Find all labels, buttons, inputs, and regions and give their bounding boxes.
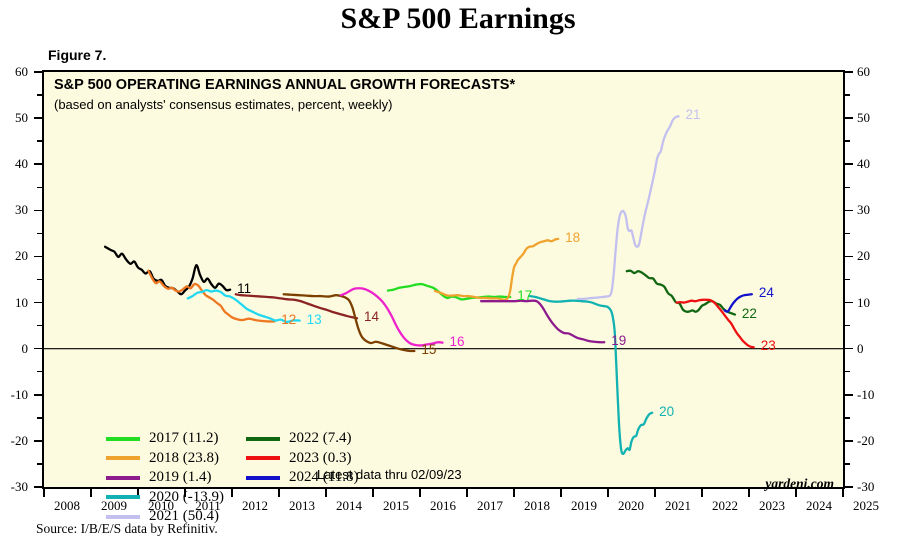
y-minor-tick-35 (845, 187, 850, 189)
y-tick-left-40 (34, 163, 42, 165)
y-tick-label-right-0: 0 (857, 341, 887, 357)
legend-swatch-2021 (106, 515, 140, 519)
legend-item-2020: 2020 (-13.9) (106, 488, 224, 508)
series-end-label-2018: 18 (565, 230, 580, 245)
y-tick-label-right--20: -20 (857, 433, 887, 449)
y-minor-tick--5 (845, 371, 850, 373)
x-tick-label-2025: 2025 (841, 498, 891, 514)
x-tick-label-2021: 2021 (653, 498, 703, 514)
y-tick-right-20 (845, 256, 853, 258)
series-end-label-2024: 24 (759, 285, 774, 300)
x-tick-2013 (278, 489, 280, 497)
y-tick-label-right-20: 20 (857, 248, 887, 264)
y-tick-label-left--20: -20 (0, 433, 28, 449)
legend-label-2018: 2018 (23.8) (149, 450, 219, 467)
legend-swatch-2019 (106, 476, 140, 480)
y-tick-right-40 (845, 163, 853, 165)
y-tick-right--20 (845, 440, 853, 442)
y-tick-right-10 (845, 302, 853, 304)
series-line-2018 (435, 239, 558, 300)
y-tick-left-20 (34, 256, 42, 258)
legend-swatch-2018 (106, 456, 140, 460)
legend-swatch-2017 (106, 437, 140, 441)
series-end-label-2019: 19 (611, 333, 626, 348)
y-tick-label-left--10: -10 (0, 387, 28, 403)
y-tick-label-left-60: 60 (0, 64, 28, 80)
latest-data-note: Latest data thru 02/09/23 (317, 467, 462, 482)
y-tick-label-left-10: 10 (0, 295, 28, 311)
series-line-2014 (236, 294, 357, 318)
x-tick-label-2014: 2014 (324, 498, 374, 514)
x-tick-label-2019: 2019 (559, 498, 609, 514)
series-end-label-2020: 20 (659, 404, 674, 419)
series-end-label-2015: 15 (421, 342, 436, 357)
x-tick-2022 (701, 489, 703, 497)
y-minor-tick-55 (845, 94, 850, 96)
x-tick-label-2015: 2015 (371, 498, 421, 514)
x-tick-2009 (90, 489, 92, 497)
y-tick-right--30 (845, 486, 853, 488)
series-end-label-2017: 17 (517, 288, 532, 303)
y-tick-left-30 (34, 210, 42, 212)
series-end-label-2021: 21 (686, 107, 701, 122)
figure-label: Figure 7. (48, 47, 106, 63)
y-tick-label-left-50: 50 (0, 110, 28, 126)
y-tick-left-50 (34, 117, 42, 119)
legend-item-2019: 2019 (1.4) (106, 468, 224, 488)
y-tick-label-right-10: 10 (857, 295, 887, 311)
series-line-2011 (105, 247, 230, 295)
series-end-label-2013: 13 (307, 312, 322, 327)
series-end-label-2012: 12 (281, 312, 296, 327)
legend-swatch-2020 (106, 495, 140, 499)
x-tick-2017 (466, 489, 468, 497)
x-tick-label-2022: 2022 (700, 498, 750, 514)
legend-column-1: 2017 (11.2)2018 (23.8)2019 (1.4)2020 (-1… (106, 429, 224, 527)
y-minor-tick--15 (845, 417, 850, 419)
y-tick-right-50 (845, 117, 853, 119)
legend-label-2022: 2022 (7.4) (289, 430, 352, 447)
series-line-2017 (388, 284, 510, 299)
y-tick-label-right--10: -10 (857, 387, 887, 403)
y-tick-left--10 (34, 394, 42, 396)
y-tick-label-left--30: -30 (0, 479, 28, 495)
legend-item-2022: 2022 (7.4) (246, 429, 358, 449)
legend-item-2018: 2018 (23.8) (106, 449, 224, 469)
y-tick-label-right-30: 30 (857, 202, 887, 218)
legend-swatch-2024 (246, 476, 280, 480)
y-tick-left-60 (34, 71, 42, 73)
chart-plot-area: S&P 500 OPERATING EARNINGS ANNUAL GROWTH… (42, 70, 845, 489)
x-tick-label-2020: 2020 (606, 498, 656, 514)
x-tick-label-2024: 2024 (794, 498, 844, 514)
y-tick-label-left-0: 0 (0, 341, 28, 357)
y-tick-left-10 (34, 302, 42, 304)
y-tick-left--20 (34, 440, 42, 442)
y-tick-label-left-40: 40 (0, 156, 28, 172)
legend-item-2017: 2017 (11.2) (106, 429, 224, 449)
series-line-2016 (341, 288, 443, 345)
y-minor-tick--25 (845, 463, 850, 465)
y-minor-tick-45 (845, 140, 850, 142)
legend-label-2019: 2019 (1.4) (149, 469, 212, 486)
x-tick-2025 (842, 489, 844, 497)
x-tick-label-2012: 2012 (230, 498, 280, 514)
legend-label-2017: 2017 (11.2) (149, 430, 218, 447)
x-tick-2016 (419, 489, 421, 497)
y-tick-label-right-60: 60 (857, 64, 887, 80)
x-tick-2014 (325, 489, 327, 497)
series-end-label-2014: 14 (364, 309, 379, 324)
y-minor-tick-25 (845, 233, 850, 235)
page-title: S&P 500 Earnings (0, 2, 916, 36)
series-end-label-2022: 22 (742, 306, 757, 321)
series-end-label-2023: 23 (761, 338, 776, 353)
legend-item-2023: 2023 (0.3) (246, 449, 358, 469)
yardeni-watermark: yardeni.com (765, 476, 834, 492)
y-tick-label-left-30: 30 (0, 202, 28, 218)
series-line-2020 (530, 296, 652, 454)
x-tick-2018 (513, 489, 515, 497)
y-tick-left--30 (34, 486, 42, 488)
series-lines (44, 72, 843, 487)
series-line-2019 (481, 301, 604, 343)
x-tick-label-2013: 2013 (277, 498, 327, 514)
x-tick-2008 (43, 489, 45, 497)
x-tick-label-2023: 2023 (747, 498, 797, 514)
x-tick-label-2017: 2017 (465, 498, 515, 514)
y-tick-label-right--30: -30 (857, 479, 887, 495)
legend-label-2023: 2023 (0.3) (289, 450, 352, 467)
series-end-label-2016: 16 (450, 334, 465, 349)
x-tick-2019 (560, 489, 562, 497)
x-tick-2023 (748, 489, 750, 497)
legend-label-2020: 2020 (-13.9) (149, 489, 224, 506)
x-tick-2012 (231, 489, 233, 497)
series-end-label-2011: 11 (237, 281, 251, 296)
legend-swatch-2022 (246, 437, 280, 441)
y-tick-right-30 (845, 210, 853, 212)
x-tick-label-2008: 2008 (42, 498, 92, 514)
x-tick-label-2018: 2018 (512, 498, 562, 514)
y-minor-tick-15 (845, 279, 850, 281)
y-tick-right--10 (845, 394, 853, 396)
y-tick-left-0 (34, 348, 42, 350)
x-tick-label-2016: 2016 (418, 498, 468, 514)
x-tick-2020 (607, 489, 609, 497)
x-tick-2015 (372, 489, 374, 497)
y-tick-label-left-20: 20 (0, 248, 28, 264)
x-tick-2021 (654, 489, 656, 497)
source-note: Source: I/B/E/S data by Refinitiv. (36, 521, 218, 537)
y-tick-right-60 (845, 71, 853, 73)
y-minor-tick-5 (845, 325, 850, 327)
y-tick-right-0 (845, 348, 853, 350)
y-tick-label-right-50: 50 (857, 110, 887, 126)
y-tick-label-right-40: 40 (857, 156, 887, 172)
legend-swatch-2023 (246, 456, 280, 460)
